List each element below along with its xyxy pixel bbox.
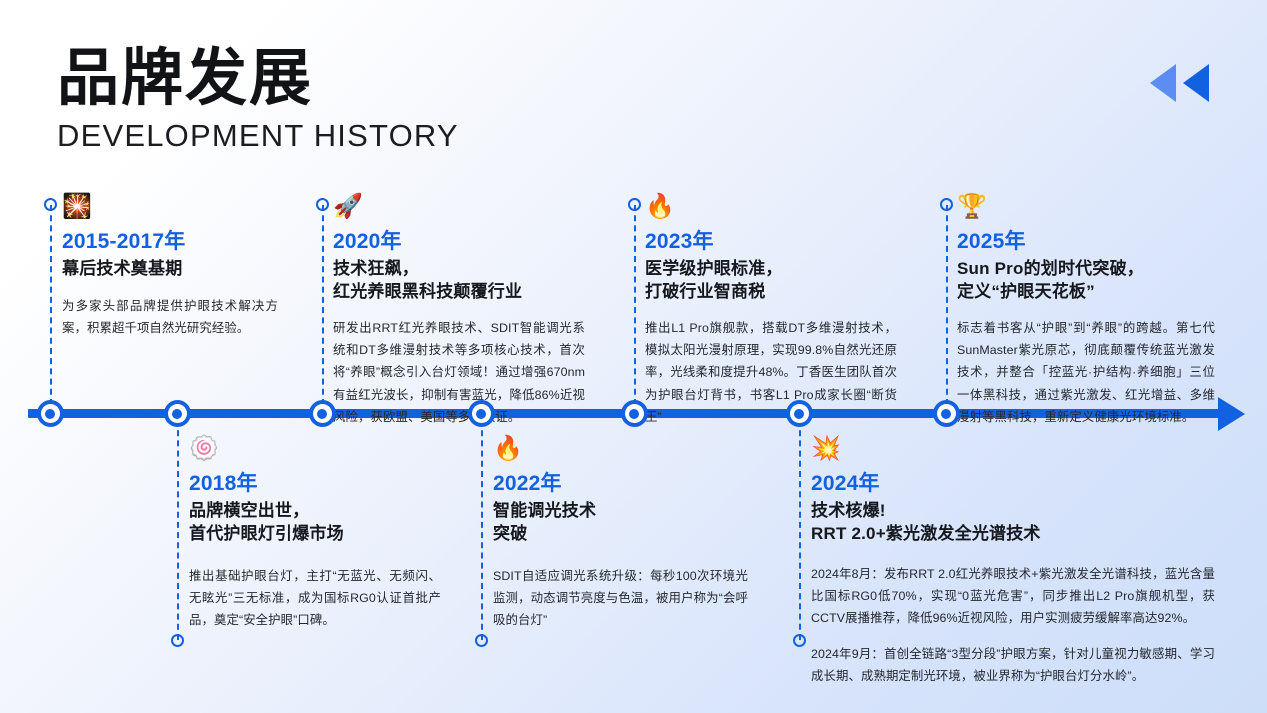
timeline-event-2024[interactable]: 💥 2024年 技术核爆! RRT 2.0+紫光激发全光谱技术 2024年8月：… <box>811 437 1215 687</box>
connector-endcap-2018 <box>171 634 184 647</box>
trophy-icon: 🏆 <box>957 195 1215 221</box>
connector-endcap-2015 <box>44 198 57 211</box>
event-year: 2024年 <box>811 472 1215 497</box>
timeline-marker-2020[interactable] <box>309 400 336 427</box>
timeline-event-2023[interactable]: 🔥 2023年 医学级护眼标准， 打破行业智商税 推出L1 Pro旗舰款，搭载D… <box>645 195 897 428</box>
connector-2015 <box>50 205 52 405</box>
connector-2024 <box>799 420 801 640</box>
timeline-event-2020[interactable]: 🚀 2020年 技术狂飙， 红光养眼黑科技颠覆行业 研发出RRT红光养眼技术、S… <box>333 195 585 428</box>
event-year: 2020年 <box>333 230 585 255</box>
timeline-marker-2015[interactable] <box>37 400 64 427</box>
triangle-left-dark-icon <box>1183 64 1209 102</box>
timeline-marker-2022[interactable] <box>468 400 495 427</box>
connector-endcap-2022 <box>475 634 488 647</box>
event-body-aug: 2024年8月：发布RRT 2.0红光养眼技术+紫光激发全光谱科技，蓝光含量比国… <box>811 563 1215 629</box>
event-heading: 医学级护眼标准， 打破行业智商税 <box>645 258 897 304</box>
event-heading: 幕后技术奠基期 <box>62 258 278 281</box>
page-header: 品牌发展 DEVELOPMENT HISTORY <box>57 46 657 153</box>
event-body: 推出L1 Pro旗舰款，搭载DT多维漫射技术，模拟太阳光漫射原理，实现99.8%… <box>645 317 897 427</box>
event-heading: 技术狂飙， 红光养眼黑科技颠覆行业 <box>333 258 585 304</box>
marker-core <box>629 409 639 419</box>
event-heading: 智能调光技术 突破 <box>493 500 748 546</box>
connector-endcap-2024 <box>793 634 806 647</box>
connector-endcap-2020 <box>316 198 329 211</box>
event-heading: Sun Pro的划时代突破， 定义“护眼天花板” <box>957 258 1215 304</box>
connector-endcap-2025 <box>940 198 953 211</box>
connector-2020 <box>322 205 324 405</box>
triangle-left-light-icon <box>1150 64 1176 102</box>
event-body: 标志着书客从“护眼”到“养眼”的跨越。第七代SunMaster紫光原芯，彻底颠覆… <box>957 317 1215 427</box>
connector-2022 <box>481 420 483 640</box>
marker-core <box>794 409 804 419</box>
marker-core <box>317 409 327 419</box>
timeline-marker-2018[interactable] <box>164 400 191 427</box>
page-title-en: DEVELOPMENT HISTORY <box>57 119 657 153</box>
decorative-arrows <box>1150 62 1222 104</box>
event-body: 研发出RRT红光养眼技术、SDIT智能调光系统和DT多维漫射技术等多项核心技术，… <box>333 317 585 427</box>
event-year: 2018年 <box>189 472 441 497</box>
event-body: 为多家头部品牌提供护眼技术解决方案，积累超千项自然光研究经验。 <box>62 295 278 339</box>
event-year: 2023年 <box>645 230 897 255</box>
timeline-event-2025[interactable]: 🏆 2025年 Sun Pro的划时代突破， 定义“护眼天花板” 标志着书客从“… <box>957 195 1215 428</box>
marker-core <box>45 409 55 419</box>
marker-core <box>172 409 182 419</box>
timeline-event-2015-2017[interactable]: 🎇 2015-2017年 幕后技术奠基期 为多家头部品牌提供护眼技术解决方案，积… <box>62 195 278 339</box>
slide-canvas: 品牌发展 DEVELOPMENT HISTORY 🎇 2015-2017年 幕后… <box>0 0 1267 713</box>
swirl-icon: 🍥 <box>189 437 441 463</box>
timeline-marker-2024[interactable] <box>786 400 813 427</box>
event-body: SDIT自适应调光系统升级：每秒100次环境光监测，动态调节亮度与色温，被用户称… <box>493 565 748 631</box>
event-body-sep: 2024年9月：首创全链路“3型分段”护眼方案，针对儿童视力敏感期、学习成长期、… <box>811 643 1215 687</box>
connector-endcap-2023 <box>628 198 641 211</box>
event-heading: 技术核爆! RRT 2.0+紫光激发全光谱技术 <box>811 500 1215 546</box>
connector-2025 <box>946 205 948 405</box>
marker-core <box>941 409 951 419</box>
timeline-arrow-right-icon <box>1218 397 1245 431</box>
connector-2023 <box>634 205 636 405</box>
timeline-marker-2023[interactable] <box>621 400 648 427</box>
event-body: 推出基础护眼台灯，主打“无蓝光、无频闪、无眩光”三无标准，成为国标RG0认证首批… <box>189 565 441 631</box>
page-title-cn: 品牌发展 <box>57 46 657 113</box>
fire-icon: 🔥 <box>645 195 897 221</box>
event-year: 2022年 <box>493 472 748 497</box>
marker-core <box>476 409 486 419</box>
fireworks-icon: 🎇 <box>62 195 278 221</box>
event-heading: 品牌横空出世， 首代护眼灯引爆市场 <box>189 500 441 546</box>
timeline-event-2022[interactable]: 🔥 2022年 智能调光技术 突破 SDIT自适应调光系统升级：每秒100次环境… <box>493 437 748 632</box>
connector-2018 <box>177 420 179 640</box>
fire-icon: 🔥 <box>493 437 748 463</box>
collision-icon: 💥 <box>811 437 1215 463</box>
timeline-event-2018[interactable]: 🍥 2018年 品牌横空出世， 首代护眼灯引爆市场 推出基础护眼台灯，主打“无蓝… <box>189 437 441 632</box>
rocket-icon: 🚀 <box>333 195 585 221</box>
event-year: 2015-2017年 <box>62 230 278 255</box>
timeline-marker-2025[interactable] <box>933 400 960 427</box>
event-year: 2025年 <box>957 230 1215 255</box>
